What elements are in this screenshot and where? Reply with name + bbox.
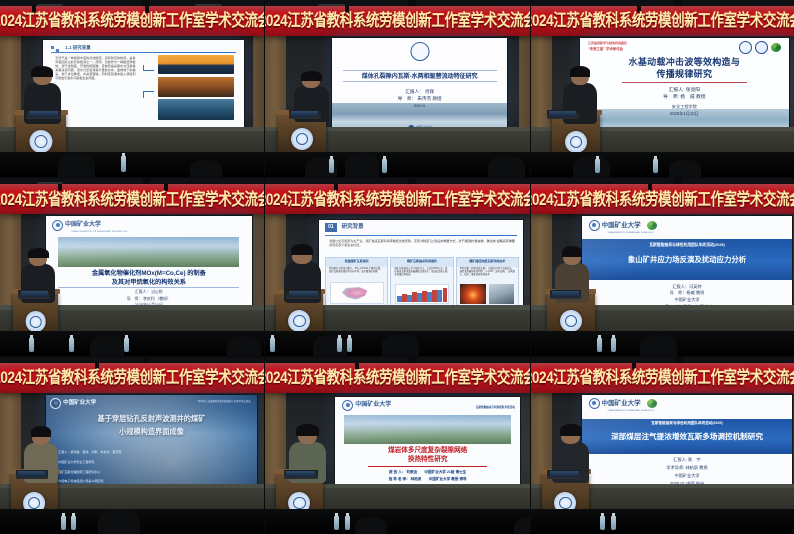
slide-4: 中国矿业大学 CHINA UNIVERSITY OF MINING AND TE… <box>46 216 252 310</box>
slide-line-1: 汇报人: 陈 宇 <box>582 457 791 462</box>
audience-row <box>0 509 264 534</box>
slide-title-line-1: 金属氧化物催化剂MOx(M=Co,Ce) 的制备 <box>54 270 243 278</box>
water-bottle <box>334 516 339 530</box>
divider <box>368 466 487 467</box>
photo-panel-5[interactable]: 2024江苏省教科系统劳模创新工作室学术交流会 01 研究背景 我国以化石能源为… <box>265 178 530 356</box>
section-number: 01 <box>325 223 337 231</box>
slide-line-2: 导 师：杨威 教授 <box>582 290 791 295</box>
water-bottle <box>337 338 342 352</box>
laptop <box>18 290 50 299</box>
water-bottle <box>345 516 350 530</box>
photo-panel-2[interactable]: 2024江苏省教科系统劳模创新工作室学术交流会 煤体孔裂隙内瓦斯-水两相驱替流动… <box>265 0 530 177</box>
event-banner: 2024江苏省教科系统劳模创新工作室学术交流会 <box>0 184 264 214</box>
divider <box>343 70 497 71</box>
slide-line-3: 中国矿业大学 <box>582 297 791 302</box>
event-banner: 2024江苏省教科系统劳模创新工作室学术交流会 <box>531 184 794 214</box>
audience-row <box>0 331 264 356</box>
green-utilization-logo-icon <box>771 43 781 52</box>
green-utilization-logo-icon <box>647 399 657 408</box>
event-banner: 2024江苏省教科系统劳模创新工作室学术交流会 <box>531 6 794 36</box>
slide-title-line-2: 小规模构造界面成像 <box>59 427 245 436</box>
slide-logos <box>739 41 781 54</box>
audience-head <box>382 334 419 356</box>
slide-header-small-2: “未来之星” 学术研讨会 <box>588 47 623 51</box>
water-bottle <box>595 159 600 173</box>
audience-head <box>488 156 525 177</box>
slide-line-1: 汇报人：冯英特 <box>582 284 791 289</box>
audience-head <box>190 160 222 177</box>
slide-1: 1.1 研究背景 天然气是一种储量丰富的清洁能源，具有较高的热值，是世界各国关注… <box>43 40 244 129</box>
university-logo-icon <box>342 400 353 411</box>
water-bottle <box>69 338 74 352</box>
slide-line-3: 煤矿瓦斯治理国家工程研究中心 <box>54 471 100 475</box>
arrow-connector-icon <box>143 91 154 97</box>
projection-screen-1[interactable]: 1.1 研究背景 天然气是一种储量丰富的清洁能源，具有较高的热值，是世界各国关注… <box>42 39 245 130</box>
slide-line-1: 汇报人：崔伟雄、董成、孙鹏、朱永欣、董开辉 <box>54 451 121 455</box>
card-title: 煤矿超低浓度瓦斯利用技术 <box>459 260 515 264</box>
photo-panel-3[interactable]: 2024江苏省教科系统劳模创新工作室学术交流会 江苏省创新学与绿色利用团队 “未… <box>531 0 794 177</box>
banner-title: 2024江苏省教科系统劳模创新工作室学术交流会 <box>531 191 794 208</box>
water-bottle <box>71 516 76 530</box>
university-logo <box>410 42 429 61</box>
divider <box>58 287 239 288</box>
divider <box>343 81 497 82</box>
university-emblem-icon <box>29 130 52 153</box>
water-bottle <box>270 338 275 352</box>
card-body: 煤矿瓦斯抽采以井下抽采为主，占比约40%左右；煤矿抽采瓦斯浓度普遍偏低且波动大，… <box>394 268 449 277</box>
photo-panel-1[interactable]: 2024江苏省教科系统劳模创新工作室学术交流会 1.1 研究背景 天然气是一种储… <box>0 0 264 177</box>
laptop <box>547 110 579 119</box>
laptop <box>26 110 60 119</box>
event-banner: 2024江苏省教科系统劳模创新工作室学术交流会 <box>531 363 794 393</box>
photo-grid: 2024江苏省教科系统劳模创新工作室学术交流会 1.1 研究背景 天然气是一种储… <box>0 0 794 532</box>
divider <box>325 235 517 236</box>
banner-title: 2024江苏省教科系统劳模创新工作室学术交流会 <box>0 13 264 30</box>
slide-title: 象山矿井应力场反演及扰动应力分析 <box>589 255 786 264</box>
projection-screen-8[interactable]: 中国矿业大学 瓦斯智能抽采与利用团队年终活动 煤岩体多尺度复杂裂隙网络 换热特性… <box>334 396 522 497</box>
university-logo-icon <box>50 398 61 409</box>
slide-header: 瓦斯智能抽采与绿色利用团队年终活动(2025) <box>582 243 791 248</box>
slide-title: 深部煤层注气提浓增效瓦斯多场调控机制研究 <box>587 432 788 441</box>
projection-screen-2[interactable]: 煤体孔裂隙内瓦斯-水两相驱替流动特征研究 汇报人： 肖辉 导 师： 朱传杰 教授… <box>331 37 508 135</box>
audience-row <box>265 152 530 177</box>
audience-row <box>265 331 530 356</box>
laptop <box>284 470 318 479</box>
card-figure <box>330 282 384 304</box>
university-emblem-icon <box>291 128 313 150</box>
audience-head <box>90 335 124 356</box>
audience-head <box>98 509 140 534</box>
divider <box>622 82 748 83</box>
audience-row <box>265 509 530 534</box>
green-utilization-logo-icon <box>647 221 657 230</box>
divider <box>51 52 236 53</box>
event-banner: 2024江苏省教科系统劳模创新工作室学术交流会 <box>265 184 530 214</box>
slide-image-2 <box>158 77 234 96</box>
banner-title: 2024江苏省教科系统劳模创新工作室学术交流会 <box>531 13 794 30</box>
projection-screen-9[interactable]: 中国矿业大学 CHINA UNIVERSITY OF MINING AND TE… <box>581 394 792 493</box>
section-label: 研究背景 <box>342 224 364 231</box>
water-bottle <box>600 516 605 530</box>
projection-screen-6[interactable]: 中国矿业大学 CHINA UNIVERSITY OF MINING AND TE… <box>581 215 792 313</box>
university-logo: 中国矿业大学 <box>50 398 96 409</box>
projection-screen-3[interactable]: 江苏省创新学与绿色利用团队 “未来之星” 学术研讨会 水基动载冲击波等效构造与 … <box>579 37 790 133</box>
slide-bullet-text: 我国以化石能源为主产业，煤矿抽采瓦斯利用率偏低当前形势，实现“绿色矿山”建设的重… <box>329 239 515 247</box>
campus-building-photo <box>344 415 511 445</box>
water-bottle <box>611 516 616 530</box>
water-bottle <box>597 338 602 352</box>
audience-head <box>345 153 379 177</box>
slide-line-4: 2025年1月10日 <box>580 111 789 116</box>
projection-screen-4[interactable]: 中国矿业大学 CHINA UNIVERSITY OF MINING AND TE… <box>45 215 253 311</box>
slide-7: 中国矿业大学 2024年江苏省教科系统劳模创新工作室学术交流会 基于穿层钻孔反射… <box>46 395 257 491</box>
water-bottle <box>124 338 129 352</box>
card-title: 煤矿瓦斯抽采利用现状 <box>394 260 450 264</box>
laptop <box>16 470 48 479</box>
slide-3: 江苏省创新学与绿色利用团队 “未来之星” 学术研讨会 水基动载冲击波等效构造与 … <box>580 38 789 132</box>
banner-title: 2024江苏省教科系统劳模创新工作室学术交流会 <box>0 191 264 208</box>
water-bottle <box>329 159 334 173</box>
card-title: 我国煤矿瓦斯现状 <box>329 260 385 264</box>
banner-title: 2024江苏省教科系统劳模创新工作室学术交流会 <box>531 370 794 387</box>
slide-section-label: 1.1 研究背景 <box>65 45 91 51</box>
water-bottle <box>61 516 66 530</box>
banner-title: 2024江苏省教科系统劳模创新工作室学术交流会 <box>265 370 530 387</box>
water-bottle <box>347 338 352 352</box>
slide-header-small-1: 江苏省创新学与绿色利用团队 <box>588 42 627 46</box>
laptop <box>547 470 581 479</box>
audience-head <box>58 154 95 177</box>
university-name: 中国矿业大学 <box>602 400 641 408</box>
photo-panel-7[interactable]: 2024江苏省教科系统劳模创新工作室学术交流会 中国矿业大学 2024年江苏省教… <box>0 357 264 534</box>
slide-8: 中国矿业大学 瓦斯智能抽采与利用团队年终活动 煤岩体多尺度复杂裂隙网络 换热特性… <box>335 397 521 496</box>
water-bottle <box>611 338 616 352</box>
water-bottle <box>29 338 34 352</box>
photo-panel-9[interactable]: 2024江苏省教科系统劳模创新工作室学术交流会 中国矿业大学 CHINA UNI… <box>531 357 794 534</box>
slide-title-line-2: 及其对甲烷氧化的构效关系 <box>54 279 243 287</box>
slide-title-line-2: 传播规律研究 <box>588 69 781 80</box>
slide-line-2: 指 导 老 师： 林柏泉 中国矿业大学 教授 博导 <box>335 477 521 481</box>
event-banner: 2024江苏省教科系统劳模创新工作室学术交流会 <box>265 6 530 36</box>
university-name: 中国矿业大学 <box>63 400 96 407</box>
audience-head <box>227 336 261 356</box>
audience-head <box>313 335 347 356</box>
arrow-connector-icon <box>143 65 154 71</box>
card-body: 甲烷含量（超低浓度瓦斯）：回收后仍需千式抽采法，通常采用蓄热氧化利用；小于8%（… <box>460 268 515 277</box>
audience-row <box>531 331 794 356</box>
slide-header: 瓦斯智能抽采与绿色利用团队年终活动(2025) <box>582 421 791 425</box>
slide-line-3: 中国矿业大学 <box>582 473 791 478</box>
university-name: 中国矿业大学 <box>65 222 101 230</box>
card-body: 我国煤矿瓦斯绝对量大，单位占2013年产量的比重；煤矿瓦斯抽采量空间分布不均，成… <box>329 268 384 274</box>
slide-title-line-1: 基于穿层钻孔反射声波测井的煤矿 <box>59 414 245 423</box>
audience-head <box>573 156 610 177</box>
slide-image-1 <box>158 55 234 74</box>
banner-title: 2024江苏省教科系统劳模创新工作室学术交流会 <box>265 13 530 30</box>
slide-2: 煤体孔裂隙内瓦斯-水两相驱替流动特征研究 汇报人： 肖辉 导 师： 朱传杰 教授… <box>332 38 507 134</box>
university-logo: 中国矿业大学 <box>52 220 101 231</box>
slide-title-line-1: 水基动载冲击波等效构造与 <box>588 57 781 68</box>
university-logo-icon <box>52 220 63 231</box>
banner-title: 2024江苏省教科系统劳模创新工作室学术交流会 <box>265 191 530 208</box>
card-figure-photo-1 <box>460 284 486 304</box>
slide-line-3: 2025.01 <box>332 104 507 108</box>
slide-line-2: 导 师: 杨 威 教授 <box>580 95 789 101</box>
slide-title: 煤体孔裂隙内瓦斯-水两相驱替流动特征研究 <box>339 74 500 82</box>
water-bottle <box>121 156 126 172</box>
slide-line-2: 导 师： 朱传杰 教授 <box>332 96 507 102</box>
photo-panel-6[interactable]: 2024江苏省教科系统劳模创新工作室学术交流会 中国矿业大学 CHINA UNI… <box>531 178 794 356</box>
slide-line-2: 导 师： 李庆利 （教授） <box>46 297 252 302</box>
university-logo-icon <box>589 398 600 409</box>
university-emblem-icon <box>288 310 310 332</box>
card-figure-barchart <box>395 284 449 304</box>
event-banner: 2024江苏省教科系统劳模创新工作室学术交流会 <box>265 363 530 393</box>
university-logo: 中国矿业大学 <box>342 400 391 411</box>
slide-line-1: 汇报人: 张亮阳 <box>580 88 789 94</box>
slide-line-3: 安全工程学院 <box>580 104 789 109</box>
slide-5: 01 研究背景 我国以化石能源为主产业，煤矿抽采瓦斯利用率偏低当前形势，实现“绿… <box>319 220 523 309</box>
campus-building-photo <box>58 237 239 267</box>
photo-panel-8[interactable]: 2024江苏省教科系统劳模创新工作室学术交流会 中国矿业大学 瓦斯智能抽采与利用… <box>265 357 530 534</box>
slide-title-line-1: 煤岩体多尺度复杂裂隙网络 <box>340 447 514 455</box>
slide-card-3: 煤矿超低浓度瓦斯利用技术 甲烷含量（超低浓度瓦斯）：回收后仍需千式抽采法，通常采… <box>456 257 519 307</box>
university-name-en: CHINA UNIVERSITY OF MINING AND TECHNOLOG… <box>607 410 653 412</box>
audience-head <box>355 517 387 534</box>
university-logo-icon <box>739 41 752 54</box>
slide-line-1: 汇报人： 过心怡 <box>46 290 252 295</box>
water-bottle <box>653 159 658 173</box>
slide-line-2: 学术导师: 林柏泉 教授 <box>582 465 791 470</box>
university-logo-icon <box>589 220 600 231</box>
slide-line-1: 报 告 人： 刘家治 中国矿业大学 21级 博士生 <box>335 470 521 474</box>
event-banner: 2024江苏省教科系统劳模创新工作室学术交流会 <box>0 363 264 393</box>
audience-row <box>0 152 264 177</box>
projection-screen-5[interactable]: 01 研究背景 我国以化石能源为主产业，煤矿抽采瓦斯利用率偏低当前形势，实现“绿… <box>318 219 524 310</box>
projection-screen-7[interactable]: 中国矿业大学 2024年江苏省教科系统劳模创新工作室学术交流会 基于穿层钻孔反射… <box>45 394 258 492</box>
university-name: 中国矿业大学 <box>602 222 641 230</box>
slide-card-2: 煤矿瓦斯抽采利用现状 煤矿瓦斯抽采以井下抽采为主，占比约40%左右；煤矿抽采瓦斯… <box>390 257 453 307</box>
audience-head <box>669 160 701 177</box>
laptop <box>286 290 320 299</box>
slide-6: 中国矿业大学 CHINA UNIVERSITY OF MINING AND TE… <box>582 216 791 312</box>
university-emblem-icon <box>25 311 46 332</box>
slide-title-line-2: 换热特性研究 <box>340 456 514 464</box>
slide-card-1: 我国煤矿瓦斯现状 我国煤矿瓦斯绝对量大，单位占2013年产量的比重；煤矿瓦斯抽采… <box>325 257 388 307</box>
school-badge-icon <box>755 41 768 54</box>
university-emblem-icon <box>565 131 587 153</box>
slide-section-tag: 01 研究背景 <box>325 223 364 231</box>
laptop <box>550 290 582 299</box>
university-logo: 中国矿业大学 <box>589 220 657 231</box>
water-bottle <box>382 159 387 173</box>
laptop <box>289 110 321 119</box>
card-figure-photo-2 <box>489 284 515 304</box>
university-emblem-icon <box>560 310 582 332</box>
slide-line-1: 汇报人： 肖辉 <box>332 89 507 95</box>
slide-line-2: 中国矿业大学安全工程学院 <box>54 461 94 465</box>
audience-row <box>531 509 794 534</box>
slide-header-right: 2024年江苏省教科系统劳模创新工作室学术交流会 <box>198 400 251 403</box>
audience-head <box>640 334 677 356</box>
university-name-en: CHINA UNIVERSITY OF MINING AND TECHNOLOG… <box>71 231 128 234</box>
university-name-en: CHINA UNIVERSITY OF MINING AND TECHNOLOG… <box>607 232 653 234</box>
slide-header: 瓦斯智能抽采与利用团队年终活动 <box>476 406 515 409</box>
university-logo: 中国矿业大学 <box>589 398 657 409</box>
slide-image-3 <box>158 99 234 120</box>
event-banner: 2024江苏省教科系统劳模创新工作室学术交流会 <box>0 6 264 36</box>
photo-panel-4[interactable]: 2024江苏省教科系统劳模创新工作室学术交流会 中国矿业大学 CHINA UNI… <box>0 178 264 356</box>
university-name: 中国矿业大学 <box>355 402 391 410</box>
banner-title: 2024江苏省教科系统劳模创新工作室学术交流会 <box>0 370 264 387</box>
audience-row <box>531 152 794 177</box>
slide-body-text: 天然气是一种储量丰富的清洁能源，具有较高的热值，是世界各国关注的高效能源之一。然… <box>55 56 135 80</box>
slide-9: 中国矿业大学 CHINA UNIVERSITY OF MINING AND TE… <box>582 395 791 492</box>
